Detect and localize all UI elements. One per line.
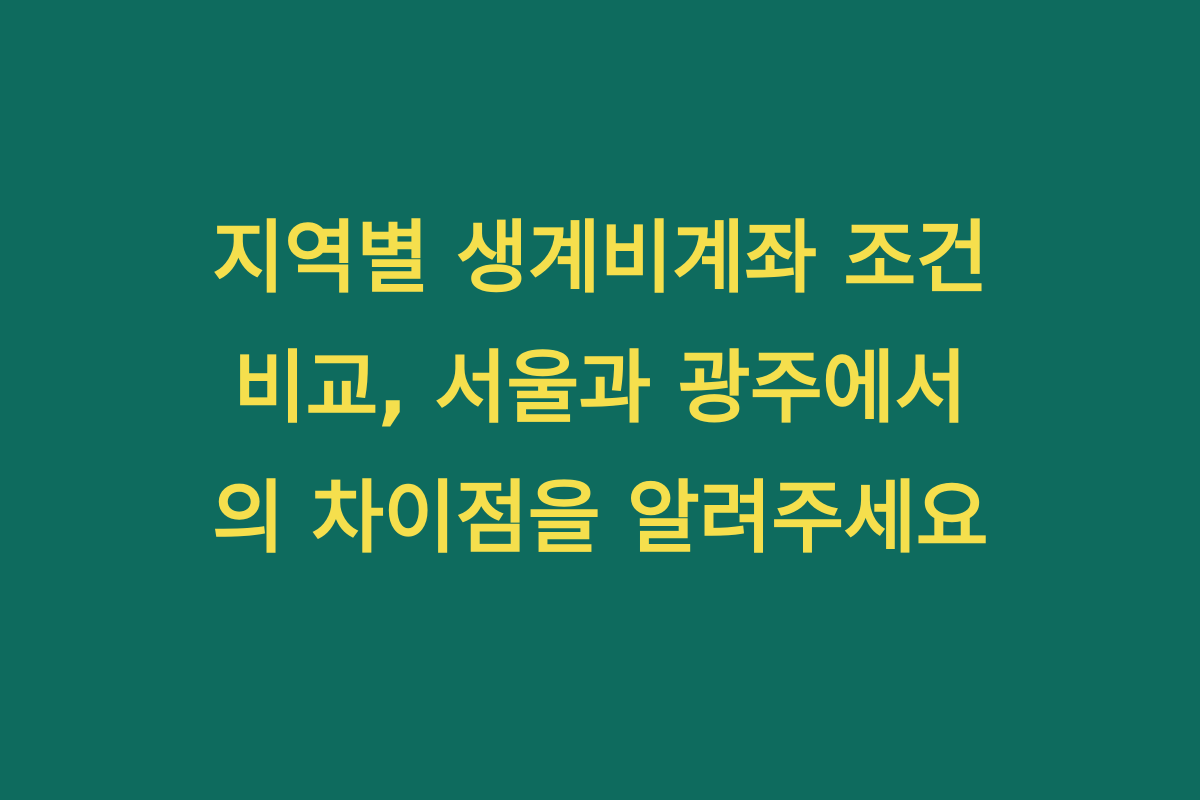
headline-line-1: 지역별 생계비계좌 조건 bbox=[93, 193, 1108, 323]
headline-text: 지역별 생계비계좌 조건 비교, 서울과 광주에서 의 차이점을 알려주세요 bbox=[93, 193, 1108, 583]
headline-line-3: 의 차이점을 알려주세요 bbox=[93, 453, 1108, 583]
headline-line-2: 비교, 서울과 광주에서 bbox=[93, 323, 1108, 453]
text-card: 지역별 생계비계좌 조건 비교, 서울과 광주에서 의 차이점을 알려주세요 bbox=[0, 0, 1200, 800]
